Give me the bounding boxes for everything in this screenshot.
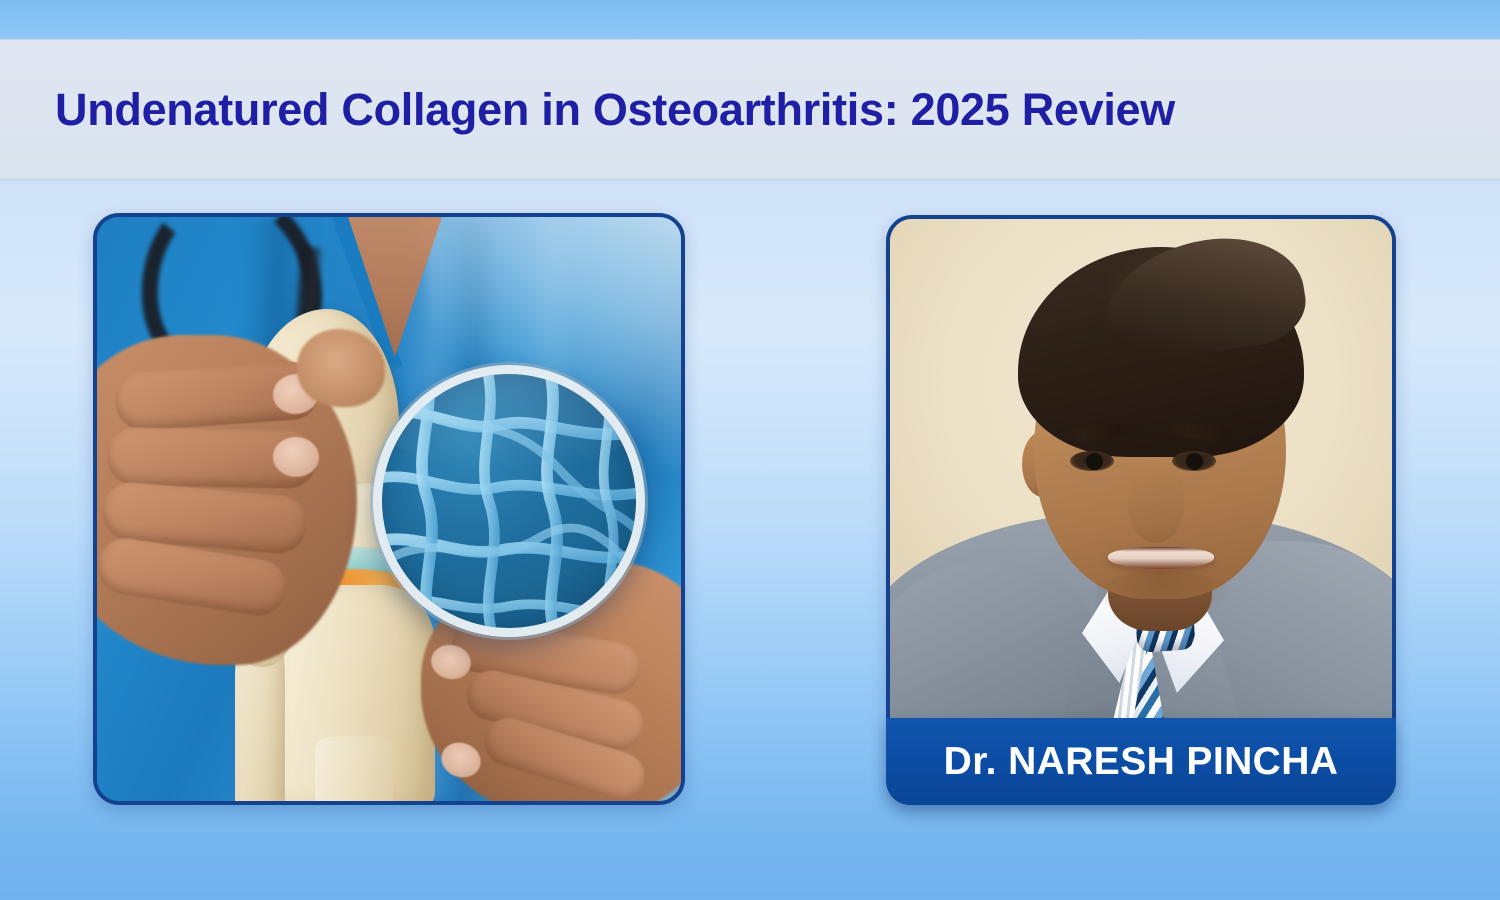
- title-band: Undenatured Collagen in Osteoarthritis: …: [0, 39, 1500, 180]
- clinical-photo-card: [93, 213, 685, 805]
- mouth: [1108, 547, 1214, 569]
- doctor-name-banner: Dr. NARESH PINCHA: [886, 718, 1396, 805]
- doctor-name: Dr. NARESH PINCHA: [944, 742, 1339, 781]
- chin-shadow: [1088, 571, 1236, 623]
- pupil-left: [1086, 453, 1103, 470]
- poster-canvas: Undenatured Collagen in Osteoarthritis: …: [0, 0, 1500, 900]
- magnifier-lens-icon: [373, 365, 645, 637]
- tibia-shaft: [315, 737, 393, 805]
- doctor-portrait-image: [890, 219, 1392, 801]
- pupil-right: [1186, 453, 1203, 470]
- collagen-fibre-network: [382, 374, 636, 628]
- page-title: Undenatured Collagen in Osteoarthritis: …: [55, 87, 1175, 132]
- clinical-photo-image: [97, 217, 681, 801]
- nose: [1128, 469, 1184, 543]
- thumb: [297, 329, 385, 407]
- doctor-portrait-card: [886, 215, 1396, 805]
